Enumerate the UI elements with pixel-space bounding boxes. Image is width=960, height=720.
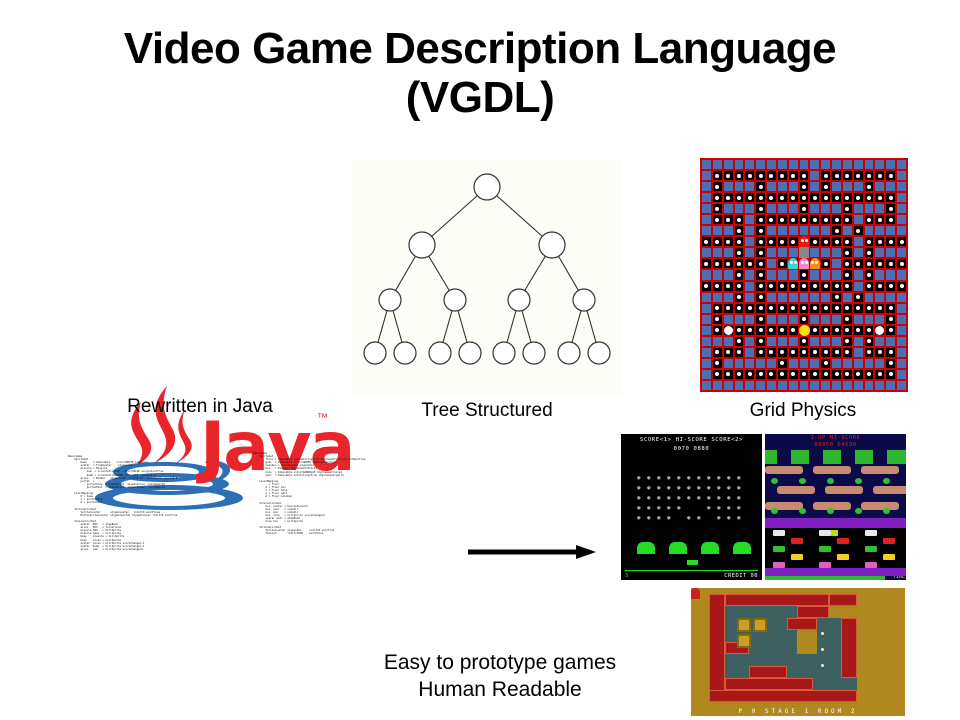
pellet [737, 295, 741, 299]
maze-wall-cell [788, 159, 799, 170]
tree-node [444, 289, 466, 311]
pellet [759, 339, 763, 343]
pellet [856, 174, 860, 178]
maze-wall-cell [712, 380, 723, 391]
maze-wall-cell [777, 247, 788, 258]
invader-sprite: ☸ [687, 476, 691, 482]
maze-wall-cell [853, 159, 864, 170]
ghost-inky [788, 258, 798, 269]
maze-wall-cell [885, 225, 896, 236]
invader-sprite: ☸ [657, 506, 661, 512]
invader-sprite: ☸ [717, 516, 721, 522]
pellet [791, 218, 795, 222]
pellet [791, 196, 795, 200]
invader-sprite: ☸ [737, 516, 741, 522]
maze-wall-cell [896, 292, 907, 303]
maze-wall-cell [885, 181, 896, 192]
maze-wall-cell [864, 292, 875, 303]
invader-sprite: ☸ [727, 486, 731, 492]
wall-brick [829, 594, 857, 606]
maze-wall-cell [744, 358, 755, 369]
maze-wall-cell [820, 247, 831, 258]
maze-wall-cell [723, 181, 734, 192]
invader-sprite: ☸ [717, 506, 721, 512]
maze-wall-cell [734, 358, 745, 369]
pellet [759, 251, 763, 255]
maze-wall-cell [831, 358, 842, 369]
maze-wall-cell [744, 292, 755, 303]
pellet [889, 262, 893, 266]
car-sprite [773, 546, 785, 552]
invader-sprite: ☸ [637, 516, 641, 522]
pellet [802, 273, 806, 277]
java-panel: Java ™ [0, 190, 260, 350]
maze-wall-cell [809, 247, 820, 258]
invader-sprite: ☸ [637, 486, 641, 492]
home-slot [809, 450, 823, 464]
maze-wall-cell [701, 347, 712, 358]
si-header: SCORE<1> HI-SCORE SCORE<2> [621, 437, 762, 443]
maze-wall-cell [734, 159, 745, 170]
maze-wall-cell [831, 336, 842, 347]
maze-wall-cell [744, 347, 755, 358]
invader-sprite: ☸ [707, 486, 711, 492]
invader-sprite: ☸ [657, 496, 661, 502]
maze-wall-cell [820, 336, 831, 347]
pellet [802, 185, 806, 189]
invader-sprite: ☸ [717, 486, 721, 492]
pellet [715, 196, 719, 200]
pellet [824, 284, 828, 288]
maze-wall-cell [723, 358, 734, 369]
maze-wall-cell [766, 181, 777, 192]
maze-wall-cell [799, 292, 810, 303]
maze-wall-cell [809, 380, 820, 391]
maze-wall-cell [712, 225, 723, 236]
pellet [889, 328, 893, 332]
maze-wall-cell [788, 380, 799, 391]
maze-wall-cell [896, 369, 907, 380]
maze-wall-cell [896, 303, 907, 314]
pellet [726, 262, 730, 266]
pellet [726, 196, 730, 200]
pellet [759, 174, 763, 178]
maze-wall-cell [885, 159, 896, 170]
tree-leaf [493, 342, 515, 364]
log-sprite [873, 486, 906, 494]
maze-wall-cell [864, 159, 875, 170]
pellet [759, 328, 763, 332]
pellet [715, 185, 719, 189]
maze-wall-cell [874, 225, 885, 236]
invader-sprite: ☸ [677, 506, 681, 512]
maze-wall-cell [831, 181, 842, 192]
invader-sprite: ☸ [667, 506, 671, 512]
pellet [878, 262, 882, 266]
maze-wall-cell [864, 358, 875, 369]
log-sprite [777, 486, 815, 494]
maze-wall-cell [799, 358, 810, 369]
maze-wall-cell [777, 292, 788, 303]
pellet [824, 196, 828, 200]
pellet [878, 306, 882, 310]
pellet [889, 240, 893, 244]
invader-sprite: ☸ [667, 496, 671, 502]
invader-sprite: ☸ [647, 486, 651, 492]
si-credit: CREDIT 00 [724, 573, 758, 579]
maze-wall-cell [820, 225, 831, 236]
maze-wall-cell [896, 247, 907, 258]
maze-wall-cell [820, 159, 831, 170]
car-sprite [865, 546, 877, 552]
goal-dot [821, 648, 824, 651]
pellet [737, 251, 741, 255]
box-sprite [737, 634, 751, 648]
maze-wall-cell [874, 247, 885, 258]
tree-diagram [352, 160, 622, 395]
pellet [824, 218, 828, 222]
bottom-caption-line2: Human Readable [330, 677, 670, 704]
pellet [889, 218, 893, 222]
car-sprite [791, 538, 803, 544]
maze-wall-cell [744, 203, 755, 214]
frog-avatar [831, 530, 838, 536]
tree-nodes [364, 174, 610, 364]
invader-sprite: ☸ [637, 506, 641, 512]
pellet [759, 306, 763, 310]
invader-sprite: ☸ [647, 496, 651, 502]
maze-wall-cell [874, 292, 885, 303]
maze-wall-cell [874, 203, 885, 214]
tree-edges [375, 187, 599, 353]
tree-node [539, 232, 565, 258]
si-lives: 3 [625, 573, 628, 579]
pellet [726, 240, 730, 244]
pellet [889, 306, 893, 310]
maze-wall-cell [744, 214, 755, 225]
maze-wall-cell [766, 269, 777, 280]
ghost-pinky [799, 258, 809, 269]
maze-wall-cell [723, 314, 734, 325]
code-block-plain: BasicGame SpriteSet base > Immovable col… [68, 455, 243, 551]
maze-wall-cell [864, 225, 875, 236]
pellet [835, 174, 839, 178]
ghost-house-gate [799, 247, 810, 258]
maze-wall-cell [874, 336, 885, 347]
maze-wall-cell [744, 336, 755, 347]
pellet [737, 229, 741, 233]
maze-wall-cell [744, 225, 755, 236]
invader-sprite: ☸ [697, 496, 701, 502]
pellet [759, 240, 763, 244]
maze-wall-cell [701, 181, 712, 192]
invader-sprite: ☸ [697, 516, 701, 522]
car-sprite [819, 530, 831, 536]
maze-wall-cell [809, 292, 820, 303]
maze-wall-cell [788, 292, 799, 303]
maze-wall-cell [777, 203, 788, 214]
maze-wall-cell [842, 380, 853, 391]
maze-wall-cell [788, 225, 799, 236]
maze-wall-cell [820, 269, 831, 280]
maze-wall-cell [820, 380, 831, 391]
maze-wall-cell [766, 159, 777, 170]
pellet [802, 207, 806, 211]
pellet [824, 328, 828, 332]
maze-wall-cell [788, 314, 799, 325]
pellet [835, 240, 839, 244]
maze-wall-cell [874, 380, 885, 391]
maze-wall-cell [744, 314, 755, 325]
invader-sprite: ☸ [657, 516, 661, 522]
maze-wall-cell [744, 236, 755, 247]
pellet [759, 284, 763, 288]
maze-wall-cell [820, 314, 831, 325]
invader-sprite: ☸ [647, 516, 651, 522]
pellet [845, 174, 849, 178]
maze-wall-cell [809, 336, 820, 347]
pellet [835, 229, 839, 233]
player-avatar [691, 588, 700, 599]
invader-sprite: ☸ [717, 476, 721, 482]
maze-wall-cell [766, 380, 777, 391]
maze-wall-cell [874, 358, 885, 369]
sokoban-status-bar: P 0 STAGE 1 ROOM 2 [691, 708, 905, 715]
wall-brick [709, 690, 857, 702]
caption-grid-physics: Grid Physics [700, 400, 906, 422]
maze-wall-cell [701, 325, 712, 336]
maze-wall-cell [896, 336, 907, 347]
frogger-header: 1-UP HI-SCORE [765, 435, 906, 441]
player-ship-sprite [687, 560, 698, 565]
pellet [824, 174, 828, 178]
maze-wall-cell [809, 225, 820, 236]
maze-wall-cell [809, 159, 820, 170]
invader-sprite: ☸ [687, 486, 691, 492]
tree-node-root [474, 174, 500, 200]
maze-wall-cell [831, 269, 842, 280]
maze-wall-cell [809, 170, 820, 181]
maze-wall-cell [831, 203, 842, 214]
maze-wall-cell [744, 281, 755, 292]
pellet [813, 218, 817, 222]
invader-sprite: ☸ [677, 476, 681, 482]
maze-wall-cell [777, 181, 788, 192]
pacman-grid [700, 158, 908, 392]
pellet [748, 196, 752, 200]
pellet [737, 273, 741, 277]
wall-brick [749, 666, 787, 678]
log-sprite [765, 466, 803, 474]
pellet [824, 185, 828, 189]
pellet [878, 174, 882, 178]
invader-sprite: ☸ [717, 496, 721, 502]
maze-wall-cell [701, 336, 712, 347]
pellet [878, 218, 882, 222]
pellet [737, 196, 741, 200]
home-slot [777, 450, 791, 464]
pellet [802, 218, 806, 222]
car-sprite [883, 538, 895, 544]
maze-wall-cell [723, 203, 734, 214]
pellet [726, 218, 730, 222]
maze-wall-cell [734, 380, 745, 391]
maze-wall-cell [896, 380, 907, 391]
ghost-blinky [799, 236, 809, 247]
tree-node [508, 289, 530, 311]
maze-wall-cell [853, 314, 864, 325]
invader-sprite: ☸ [677, 496, 681, 502]
log-sprite [825, 486, 863, 494]
maze-wall-cell [723, 225, 734, 236]
turtle-sprite [827, 508, 834, 514]
maze-wall-cell [712, 159, 723, 170]
tree-leaf [558, 342, 580, 364]
maze-wall-cell [766, 292, 777, 303]
ghost-clyde [810, 258, 820, 269]
car-sprite [865, 530, 877, 536]
maze-wall-cell [788, 181, 799, 192]
code-block-highlighted: BasicGame SpriteSet floor > Immovable ra… [253, 452, 458, 536]
slide-title-line2: (VGDL) [0, 73, 960, 122]
maze-wall-cell [809, 269, 820, 280]
frogger-scores: 00050 04630 [765, 442, 906, 448]
invader-sprite: ☸ [707, 506, 711, 512]
wall-brick [725, 594, 829, 606]
wall-brick [709, 594, 725, 702]
invader-sprite: ☸ [737, 476, 741, 482]
game-screenshot-space-invaders: SCORE<1> HI-SCORE SCORE<2> 0070 0880 CRE… [621, 434, 762, 580]
right-arrow-icon [468, 545, 596, 559]
invader-sprite: ☸ [697, 486, 701, 492]
maze-wall-cell [896, 269, 907, 280]
car-sprite [819, 546, 831, 552]
pellet [824, 306, 828, 310]
pellet [737, 218, 741, 222]
maze-wall-cell [734, 203, 745, 214]
maze-wall-cell [853, 336, 864, 347]
pellet [835, 196, 839, 200]
caption-rewritten-in-java: Rewritten in Java [75, 396, 325, 418]
tree-leaf [588, 342, 610, 364]
tree-leaf [364, 342, 386, 364]
car-sprite [791, 554, 803, 560]
bunker-sprite [733, 542, 751, 554]
maze-wall-cell [809, 314, 820, 325]
pellet [759, 229, 763, 233]
maze-wall-cell [885, 380, 896, 391]
maze-wall-cell [799, 159, 810, 170]
maze-wall-cell [755, 159, 766, 170]
invader-sprite: ☸ [737, 496, 741, 502]
maze-wall-cell [820, 203, 831, 214]
maze-wall-cell [701, 203, 712, 214]
maze-wall-cell [701, 192, 712, 203]
invader-sprite: ☸ [667, 486, 671, 492]
maze-wall-cell [896, 170, 907, 181]
invader-sprite: ☸ [707, 496, 711, 502]
bunker-sprite [637, 542, 655, 554]
maze-wall-cell [777, 225, 788, 236]
maze-wall-cell [831, 247, 842, 258]
home-slot [873, 450, 887, 464]
maze-wall-cell [842, 225, 853, 236]
maze-wall-cell [755, 380, 766, 391]
maze-wall-cell [885, 292, 896, 303]
maze-wall-cell [788, 269, 799, 280]
pellet [759, 185, 763, 189]
pellet [900, 262, 904, 266]
pellet [759, 350, 763, 354]
invader-sprite: ☸ [697, 476, 701, 482]
caption-tree-structured: Tree Structured [352, 400, 622, 422]
maze-wall-cell [766, 203, 777, 214]
maze-wall-cell [701, 214, 712, 225]
pellet [889, 196, 893, 200]
invader-sprite: ☸ [667, 476, 671, 482]
pellet [867, 218, 871, 222]
maze-wall-cell [896, 192, 907, 203]
maze-wall-cell [831, 380, 842, 391]
pellet [715, 174, 719, 178]
invader-sprite: ☸ [687, 516, 691, 522]
maze-wall-cell [799, 225, 810, 236]
maze-wall-cell [853, 281, 864, 292]
maze-wall-cell [701, 225, 712, 236]
invader-sprite: ☸ [727, 506, 731, 512]
car-sprite [837, 538, 849, 544]
pellet [824, 240, 828, 244]
pellet [835, 218, 839, 222]
maze-wall-cell [723, 336, 734, 347]
invader-sprite: ☸ [737, 486, 741, 492]
tree-leaf [394, 342, 416, 364]
timer-bar [765, 576, 885, 580]
maze-wall-cell [853, 236, 864, 247]
maze-wall-cell [799, 380, 810, 391]
maze-wall-cell [734, 314, 745, 325]
maze-wall-cell [831, 314, 842, 325]
maze-wall-cell [766, 358, 777, 369]
maze-wall-cell [766, 336, 777, 347]
maze-wall-cell [896, 314, 907, 325]
pellet [867, 196, 871, 200]
pellet [748, 306, 752, 310]
maze-wall-cell [701, 303, 712, 314]
maze-wall-cell [766, 314, 777, 325]
maze-wall-cell [874, 314, 885, 325]
pellet [737, 284, 741, 288]
invader-sprite: ☸ [637, 476, 641, 482]
maze-wall-cell [896, 347, 907, 358]
home-slot [841, 450, 855, 464]
maze-wall-cell [766, 258, 777, 269]
maze-wall-cell [701, 159, 712, 170]
bunker-sprite [669, 542, 687, 554]
car-sprite [837, 554, 849, 560]
invader-sprite: ☸ [667, 516, 671, 522]
pellet [835, 284, 839, 288]
pellet [759, 207, 763, 211]
maze-wall-cell [853, 358, 864, 369]
goal-dot [821, 664, 824, 667]
maze-wall-cell [896, 214, 907, 225]
maze-wall-cell [853, 247, 864, 258]
pellet [802, 196, 806, 200]
maze-wall-cell [777, 380, 788, 391]
maze-wall-cell [809, 358, 820, 369]
pellet [802, 174, 806, 178]
